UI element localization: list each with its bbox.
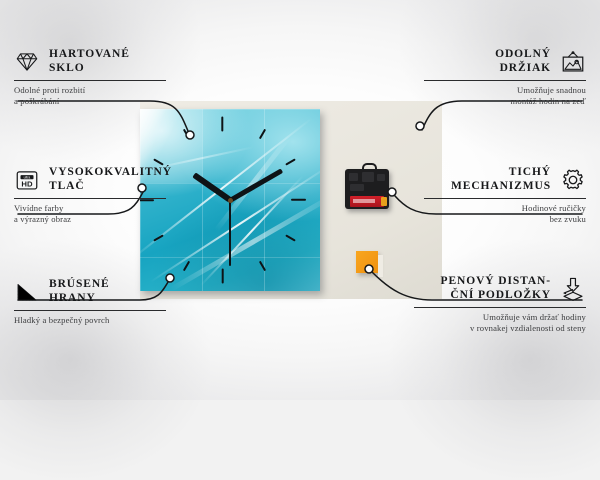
connector-endpoint-5 [388,188,396,196]
connector-endpoint-4 [416,122,424,130]
feature-callout-durable-hanger: ODOLNÝ DRŽIAK Umožňuje snadnou montáž ho… [424,48,586,107]
callout-divider [14,198,166,199]
callout-desc-line2: a výrazný obraz [14,214,166,225]
beveled-edge-icon [14,279,40,305]
callout-header: ultra HD VYSOKOKVALITNÝ TLAČ [14,166,166,193]
callout-header: TICHÝ MECHANIZMUS [424,166,586,193]
callout-divider [414,307,586,308]
callout-desc-line1: Umožňuje snadnou [424,85,586,96]
callout-title: TICHÝ MECHANIZMUS [451,166,551,193]
callout-header: BRÚSENÉ HRANY [14,278,166,305]
foam-pad-icon [560,276,586,302]
callout-header: HARTOVANÉ SKLO [14,48,166,75]
feature-callout-tempered-glass: HARTOVANÉ SKLO Odolné proti rozbití a po… [14,48,166,107]
callout-header: PENOVÝ DISTAN- ČNÍ PODLOŽKY [414,275,586,302]
feature-callout-silent-mechanism: TICHÝ MECHANIZMUS Hodinové ručičky bez z… [424,166,586,225]
callout-title: HARTOVANÉ SKLO [49,48,130,75]
callout-desc-line2: v rovnakej vzdialenosti od steny [414,323,586,334]
connector-endpoint-6 [365,265,373,273]
callout-header: ODOLNÝ DRŽIAK [424,48,586,75]
callout-divider [424,198,586,199]
callout-title: BRÚSENÉ HRANY [49,278,110,305]
gear-icon [560,167,586,193]
callout-desc-line1: Odolné proti rozbití [14,85,166,96]
callout-divider [14,310,166,311]
callout-title: PENOVÝ DISTAN- ČNÍ PODLOŽKY [441,275,551,302]
diamond-icon [14,49,40,75]
callout-title: ODOLNÝ DRŽIAK [495,48,551,75]
callout-desc-line2: a poškrábání [14,96,166,107]
feature-callout-high-quality-print: ultra HD VYSOKOKVALITNÝ TLAČ Vivídne far… [14,166,166,225]
feature-callout-foam-spacers: PENOVÝ DISTAN- ČNÍ PODLOŽKY Umožňuje vám… [414,275,586,334]
connector-endpoint-3 [166,274,174,282]
callout-desc-line2: bez zvuku [424,214,586,225]
callout-desc-line1: Vivídne farby [14,203,166,214]
ultra-hd-big-label: HD [21,179,33,188]
feature-callout-beveled-edges: BRÚSENÉ HRANY Hladký a bezpečný povrch [14,278,166,326]
picture-hanger-icon [560,49,586,75]
callout-title: VYSOKOKVALITNÝ TLAČ [49,166,172,193]
callout-desc-line1: Hladký a bezpečný povrch [14,315,166,326]
callout-divider [14,80,166,81]
ultra-hd-icon: ultra HD [14,167,40,193]
infographic-canvas: HARTOVANÉ SKLO Odolné proti rozbití a po… [0,0,600,400]
callout-divider [424,80,586,81]
callout-desc-line1: Umožňuje vám držať hodiny [414,312,586,323]
callout-desc-line2: montáž hodin na zeď [424,96,586,107]
callout-desc-line1: Hodinové ručičky [424,203,586,214]
connector-endpoint-1 [186,131,194,139]
